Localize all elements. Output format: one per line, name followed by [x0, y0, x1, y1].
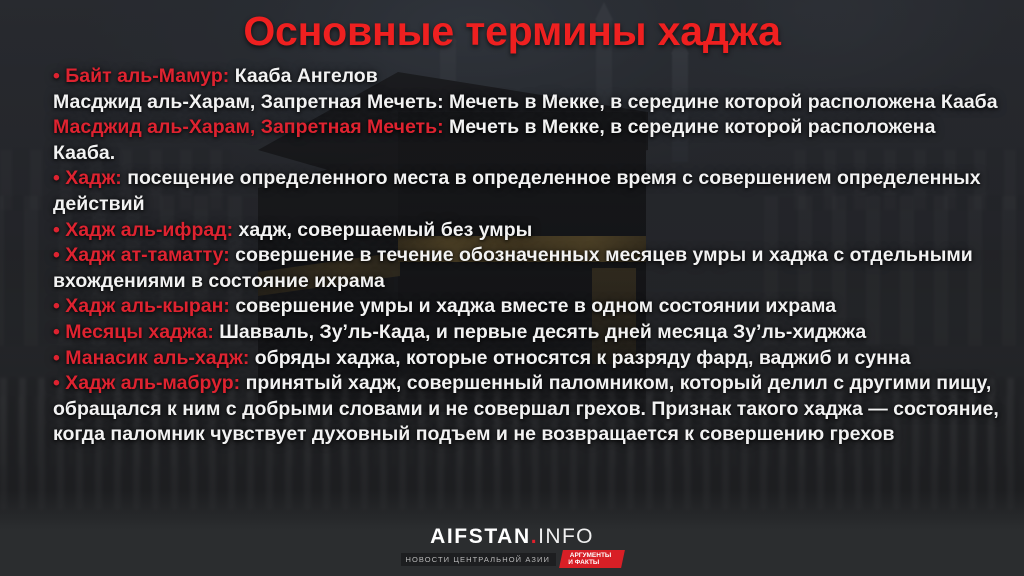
term-entry: • Байт аль-Мамур: Кааба Ангелов [53, 64, 999, 90]
term-name: Хадж: [65, 167, 122, 189]
bullet-icon: • [53, 295, 60, 317]
logo-badge-aif: АРГУМЕНТЫ И ФАКТЫ [559, 550, 624, 568]
bullet-icon: • [53, 372, 60, 394]
bullet-icon: • [53, 321, 60, 343]
term-entry: • Хадж аль-кыран: совершение умры и хадж… [53, 294, 999, 320]
term-name: Хадж аль-кыран: [65, 295, 230, 317]
bullet-icon: • [53, 65, 60, 87]
term-name: Месяцы хаджа: [65, 321, 214, 343]
term-definition: Шавваль, Зу’ль-Када, и первые десять дне… [219, 321, 866, 343]
term-definition: совершение умры и хаджа вместе в одном с… [235, 295, 836, 317]
term-entry: • Хадж аль-мабрур: принятый хадж, соверш… [53, 371, 999, 448]
slide: Основные термины хаджа • Байт аль-Мамур:… [0, 0, 1024, 576]
terms-list: • Байт аль-Мамур: Кааба АнгеловМасджид а… [53, 64, 999, 448]
logo-subline: НОВОСТИ ЦЕНТРАЛЬНОЙ АЗИИ АРГУМЕНТЫ И ФАК… [401, 550, 622, 568]
term-definition: посещение определенного места в определе… [53, 167, 981, 215]
term-definition: обряды хаджа, которые относятся к разряд… [255, 347, 911, 369]
term-name: Масджид аль-Харам, Запретная Мечеть: [53, 116, 444, 138]
term-entry: • Месяцы хаджа: Шавваль, Зу’ль-Када, и п… [53, 320, 999, 346]
logo-name-light: INFO [538, 525, 594, 548]
logo-name-bold: AIFSTAN [430, 525, 531, 548]
term-name: Хадж аль-ифрад: [65, 219, 233, 241]
slide-content: Основные термины хаджа • Байт аль-Мамур:… [0, 0, 1024, 576]
term-name: Хадж ат-таматту: [65, 244, 229, 266]
logo-tagline: НОВОСТИ ЦЕНТРАЛЬНОЙ АЗИИ [401, 553, 555, 566]
term-definition: Мечеть в Мекке, в середине которой распо… [449, 91, 998, 113]
term-entry: Масджид аль-Харам, Запретная Мечеть: Меч… [53, 115, 999, 166]
term-entry: • Хадж ат-таматту: совершение в течение … [53, 243, 999, 294]
term-name: Байт аль-Мамур: [65, 65, 229, 87]
logo-wordmark: AIFSTAN.INFO [0, 526, 1024, 548]
term-entry: Масджид аль-Харам, Запретная Мечеть: Меч… [53, 90, 999, 116]
term-entry: • Хадж: посещение определенного места в … [53, 166, 999, 217]
bullet-icon: • [53, 167, 60, 189]
term-definition: хадж, совершаемый без умры [239, 219, 533, 241]
logo-badge-line1: АРГУМЕНТЫ [570, 552, 612, 559]
term-definition: Кааба Ангелов [235, 65, 378, 87]
bullet-icon: • [53, 219, 60, 241]
site-logo: AIFSTAN.INFO НОВОСТИ ЦЕНТРАЛЬНОЙ АЗИИ АР… [0, 526, 1024, 568]
term-entry: • Манасик аль-хадж: обряды хаджа, которы… [53, 346, 999, 372]
term-name: Манасик аль-хадж: [65, 347, 249, 369]
term-entry: • Хадж аль-ифрад: хадж, совершаемый без … [53, 218, 999, 244]
bullet-icon: • [53, 347, 60, 369]
term-name: Масджид аль-Харам, Запретная Мечеть: [53, 91, 444, 113]
term-name: Хадж аль-мабрур: [65, 372, 240, 394]
logo-badge-line2: И ФАКТЫ [568, 559, 610, 566]
bullet-icon: • [53, 244, 60, 266]
page-title: Основные термины хаджа [0, 7, 1024, 55]
